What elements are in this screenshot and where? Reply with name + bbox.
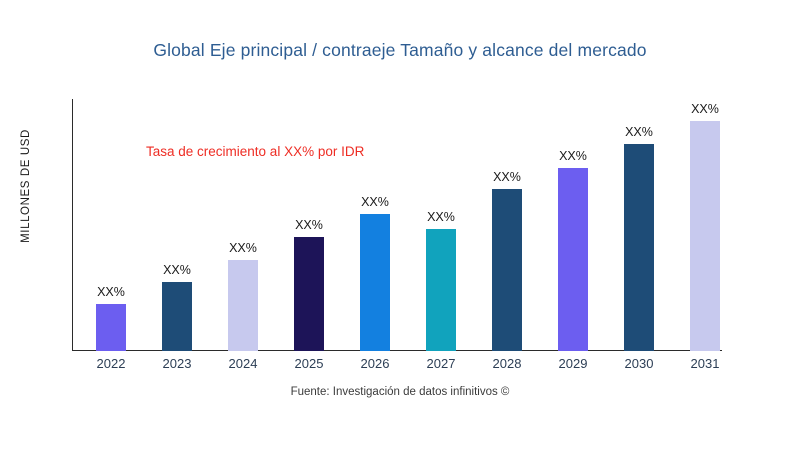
bar-2024[interactable] <box>228 260 258 351</box>
chart-title: Global Eje principal / contraeje Tamaño … <box>0 40 800 61</box>
chart-container: Global Eje principal / contraeje Tamaño … <box>0 0 800 450</box>
bar-group-2026[interactable]: XX% <box>342 99 408 351</box>
bar-value-label-2025: XX% <box>276 218 342 232</box>
x-tick-label-2023: 2023 <box>144 356 210 371</box>
bar-2023[interactable] <box>162 282 192 351</box>
bar-value-label-2027: XX% <box>408 210 474 224</box>
bar-value-label-2028: XX% <box>474 170 540 184</box>
bar-value-label-2031: XX% <box>672 102 738 116</box>
bar-value-label-2023: XX% <box>144 263 210 277</box>
bar-2030[interactable] <box>624 144 654 351</box>
bar-group-2029[interactable]: XX% <box>540 99 606 351</box>
bar-group-2031[interactable]: XX% <box>672 99 738 351</box>
bar-2025[interactable] <box>294 237 324 351</box>
bar-2031[interactable] <box>690 121 720 351</box>
x-tick-label-2025: 2025 <box>276 356 342 371</box>
x-tick-label-2030: 2030 <box>606 356 672 371</box>
bar-group-2024[interactable]: XX% <box>210 99 276 351</box>
x-tick-label-2022: 2022 <box>78 356 144 371</box>
bar-value-label-2024: XX% <box>210 241 276 255</box>
bar-2022[interactable] <box>96 304 126 351</box>
y-axis-label: MILLONES DE USD <box>20 76 32 296</box>
plot-area: XX%XX%XX%XX%XX%XX%XX%XX%XX%XX% <box>72 99 800 351</box>
bar-group-2030[interactable]: XX% <box>606 99 672 351</box>
bar-value-label-2026: XX% <box>342 195 408 209</box>
source-note: Fuente: Investigación de datos infinitiv… <box>0 386 800 398</box>
bar-value-label-2022: XX% <box>78 285 144 299</box>
bar-group-2028[interactable]: XX% <box>474 99 540 351</box>
x-tick-label-2031: 2031 <box>672 356 738 371</box>
bar-2029[interactable] <box>558 168 588 351</box>
bar-2027[interactable] <box>426 229 456 351</box>
bar-group-2025[interactable]: XX% <box>276 99 342 351</box>
bar-value-label-2030: XX% <box>606 125 672 139</box>
bar-group-2023[interactable]: XX% <box>144 99 210 351</box>
x-axis-tick-labels: 2022202320242025202620272028202920302031 <box>72 356 800 378</box>
x-tick-label-2026: 2026 <box>342 356 408 371</box>
bar-2026[interactable] <box>360 214 390 351</box>
bar-group-2027[interactable]: XX% <box>408 99 474 351</box>
x-tick-label-2029: 2029 <box>540 356 606 371</box>
bar-group-2022[interactable]: XX% <box>78 99 144 351</box>
x-tick-label-2027: 2027 <box>408 356 474 371</box>
bar-2028[interactable] <box>492 189 522 351</box>
bar-value-label-2029: XX% <box>540 149 606 163</box>
x-tick-label-2024: 2024 <box>210 356 276 371</box>
x-tick-label-2028: 2028 <box>474 356 540 371</box>
